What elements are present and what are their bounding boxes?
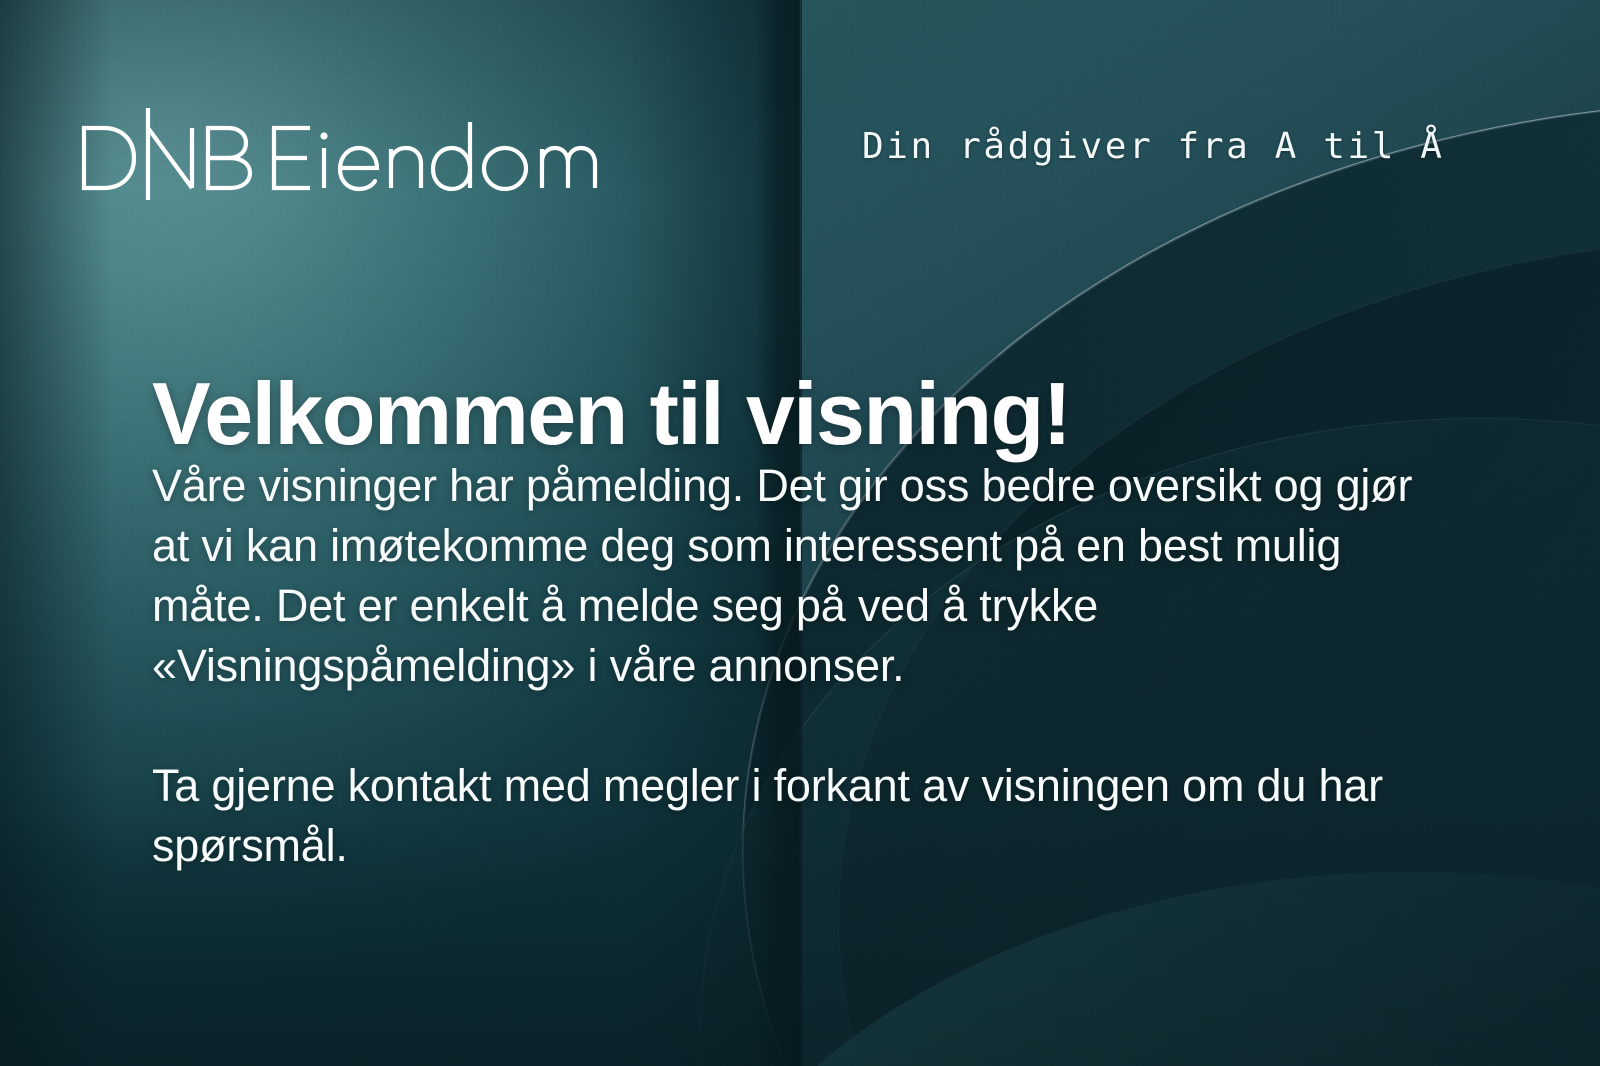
dnb-eiendom-logo [78, 108, 718, 200]
paragraph-spacer [152, 696, 1452, 756]
body-copy: Våre visninger har påmelding. Det gir os… [152, 456, 1452, 876]
tagline-text: Din rådgiver fra A til Å [862, 126, 1445, 167]
page-title: Velkommen til visning! [152, 368, 1070, 460]
body-paragraph-1: Våre visninger har påmelding. Det gir os… [152, 456, 1452, 696]
body-paragraph-2: Ta gjerne kontakt med megler i forkant a… [152, 756, 1452, 876]
slide-canvas: Din rådgiver fra A til Å Velkommen til v… [0, 0, 1600, 1066]
